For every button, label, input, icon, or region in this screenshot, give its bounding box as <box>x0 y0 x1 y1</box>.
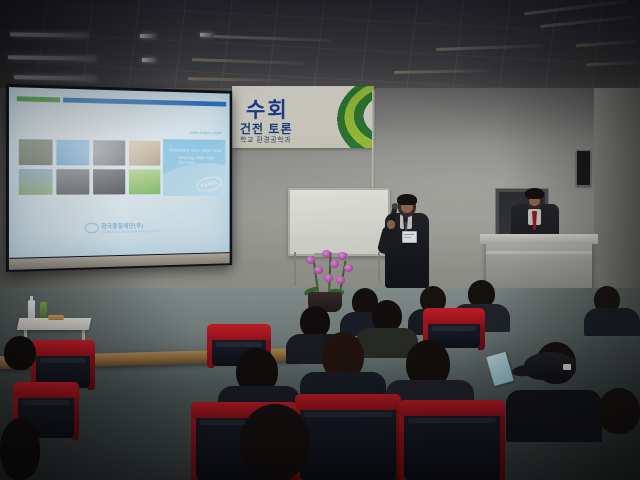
slide-accent-bar-blue <box>63 98 226 107</box>
orchid-flower <box>306 256 315 264</box>
slide-thumbnail <box>19 139 53 165</box>
auditorium-photo: 수회 건전 토론 학교 환경공학과 www.kapec.com Deliveri… <box>0 0 640 480</box>
audience-head <box>4 336 36 370</box>
wall-mounted-speaker <box>576 150 591 186</box>
seat-headrest <box>423 308 485 324</box>
audience-shoulders <box>584 308 640 336</box>
fluorescent-light-fixture <box>214 35 332 42</box>
orchid-flower <box>314 266 323 274</box>
slide-thumbnail <box>129 141 160 166</box>
fluorescent-light-fixture <box>140 34 156 38</box>
seat-highlight <box>432 326 476 331</box>
presentation-slide: www.kapec.com Delivering Your Value Now … <box>9 87 230 258</box>
fluorescent-light-fixture <box>436 44 544 51</box>
panel-tagline-line1: Delivering Your Value Now <box>169 148 221 153</box>
fluorescent-light-fixture <box>188 77 280 82</box>
audience-head <box>598 388 640 434</box>
fluorescent-light-fixture <box>540 15 636 28</box>
ceiling <box>0 0 640 92</box>
name-badge <box>402 231 417 243</box>
fluorescent-light-fixture <box>10 32 88 37</box>
auditorium-seat[interactable] <box>404 406 500 480</box>
fluorescent-light-fixture <box>586 61 640 67</box>
fluorescent-light-fixture <box>524 0 628 15</box>
seat-highlight <box>216 342 262 347</box>
seat-headrest <box>31 340 95 356</box>
fluorescent-light-fixture <box>200 33 214 37</box>
slide-thumbnail <box>93 169 125 194</box>
banner-swoosh-graphic <box>280 86 374 148</box>
orchid-flower <box>344 264 353 272</box>
audience-head <box>240 404 310 480</box>
fluorescent-light-fixture <box>14 75 96 80</box>
slide-thumbnail <box>56 140 89 166</box>
slide-thumbnail <box>19 169 53 195</box>
seat-headrest <box>207 324 271 340</box>
podium-trim <box>486 251 592 254</box>
water-bottle-white <box>28 300 35 320</box>
fluorescent-light-fixture <box>576 40 638 47</box>
speaker-2-hair <box>525 188 544 199</box>
orchid-flower <box>330 260 339 268</box>
orchid-flower <box>322 250 331 258</box>
podium-top-surface <box>480 234 598 244</box>
seat-headrest <box>399 400 505 416</box>
whiteboard-stand-leg <box>378 252 380 282</box>
audience-shoulders <box>506 390 602 442</box>
orchid-flower <box>324 274 333 282</box>
cap-logo-patch <box>563 364 571 370</box>
slide-url-text: www.kapec.com <box>190 130 221 135</box>
slide-feature-panel: Delivering Your Value Now Winning With Y… <box>163 139 225 196</box>
snack-tray <box>48 315 64 320</box>
projection-screen: www.kapec.com Delivering Your Value Now … <box>6 84 232 272</box>
banner-caption: 학교 환경공학과 <box>240 135 291 145</box>
company-logo-icon <box>85 223 99 234</box>
fluorescent-light-fixture <box>8 55 96 61</box>
whiteboard-stand-leg <box>294 252 296 286</box>
slide-thumbnail <box>56 169 89 195</box>
speaker-1-hand <box>387 220 395 229</box>
seat-highlight <box>408 418 496 423</box>
orchid-flower <box>338 252 347 260</box>
panel-tagline-line2: Winning With Your Success <box>179 155 226 165</box>
slide-thumbnail <box>93 140 125 165</box>
seat-highlight <box>40 358 86 363</box>
event-banner: 수회 건전 토론 학교 환경공학과 <box>232 86 374 148</box>
audience-head <box>0 418 40 480</box>
slide-thumbnail <box>129 169 160 194</box>
slide-accent-bar-green <box>17 96 60 102</box>
wall-corner <box>594 88 640 300</box>
orchid-flower <box>336 276 345 284</box>
slide-footer-logo-en: KOREA FOUNDATION FOR QUALITY <box>101 229 161 234</box>
auditorium-seat[interactable] <box>300 400 396 480</box>
seat-headrest <box>295 394 401 410</box>
seat-highlight <box>22 400 70 405</box>
speaker-1-hair <box>397 194 417 205</box>
ceiling-tile-grid <box>0 0 640 92</box>
fluorescent-light-fixture <box>142 58 156 62</box>
slide-thumbnail-grid <box>19 139 159 197</box>
banner-support-pole <box>372 90 375 202</box>
seat-headrest <box>13 382 79 398</box>
slide-footer-logo: 한국품질재단(주) KOREA FOUNDATION FOR QUALITY <box>85 221 161 235</box>
whiteboard <box>288 188 390 256</box>
seat-highlight <box>304 412 392 417</box>
fluorescent-light-fixture <box>192 58 304 65</box>
fluorescent-light-fixture <box>394 69 490 74</box>
black-baseball-cap <box>524 352 576 380</box>
